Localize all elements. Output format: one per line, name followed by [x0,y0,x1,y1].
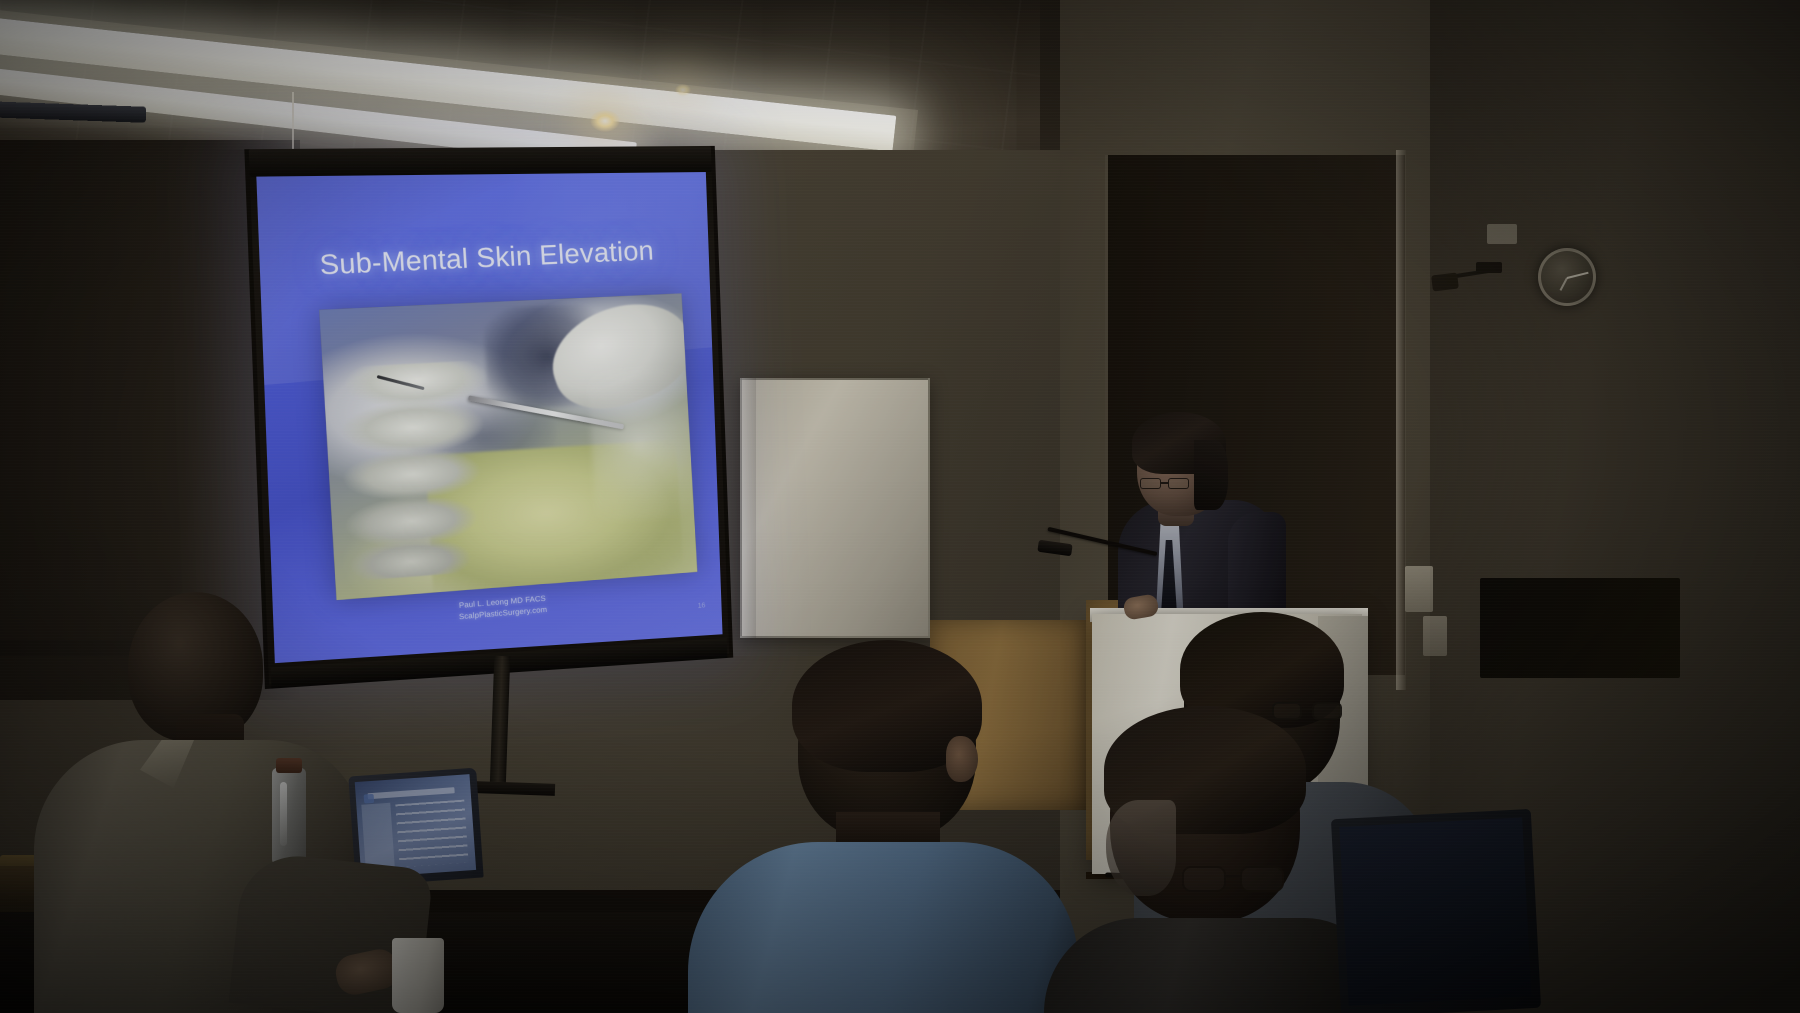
presentation-room-photo: Sub-Mental Skin Elevation Paul L. Leong … [0,0,1800,1013]
wall-bracket-icon [1432,262,1504,288]
laptop-screen [1339,817,1531,1005]
downlight-icon-3 [675,84,691,96]
slide-title: Sub-Mental Skin Elevation [259,233,710,285]
downlight-icon [590,110,620,132]
laptop-screen-toolbar [367,787,455,800]
speaker-eyeglasses-icon [1140,478,1192,489]
audience-member-d-temple [1106,800,1176,896]
audience-member-c-eyeglasses-icon [1272,702,1344,720]
laptop-screen-icon [364,794,375,803]
laptop-screen-content [395,800,468,868]
slide-page-number: 16 [698,602,706,610]
audience-member-b-body [688,842,1078,1013]
clock-hand-hour [1560,278,1568,291]
eyeglass-lens-right [1312,702,1342,720]
photo-gloved-fingers [330,359,505,582]
audience-member-d-eyeglasses-icon [1182,866,1286,892]
speaker-hair-side [1194,440,1228,510]
clock-hand-minute [1567,272,1589,279]
eyeglass-lens-right [1240,866,1284,892]
eyeglass-lens-left [1182,866,1226,892]
wall-plate [1487,224,1517,244]
eyeglass-bridge [1226,875,1240,878]
whiteboard-edge [740,378,756,638]
water-bottle [272,768,306,866]
bracket-head [1476,262,1502,273]
slide-surgical-photo [319,293,697,600]
laptop-front-right [1331,809,1541,1013]
paper-cup [392,938,444,1013]
projection-screen: Sub-Mental Skin Elevation Paul L. Leong … [244,146,733,689]
whiteboard [740,378,930,638]
laptop-screen [355,774,476,878]
wall-outlet-icon [1405,566,1433,612]
photo-specular-highlight [587,365,697,524]
wall-outlet-icon-2 [1423,616,1447,656]
bracket-base [1431,272,1459,291]
eyeglass-bridge [1302,708,1312,710]
eyeglass-lens-left [1140,478,1161,489]
audience-member-d-body [1044,918,1384,1013]
audience-member-b-ear [946,736,978,782]
dark-wall-panel [1480,578,1680,678]
eyeglass-lens-right [1168,478,1189,489]
water-bottle-cap [276,758,302,773]
laptop-lid [1331,809,1541,1013]
projected-slide: Sub-Mental Skin Elevation Paul L. Leong … [256,172,722,663]
laptop-screen-sidebar [361,803,396,872]
water-bottle-highlight [280,782,287,846]
wall-clock-icon [1538,248,1596,306]
eyeglass-lens-left [1272,702,1302,720]
eyeglass-bridge [1161,482,1168,484]
